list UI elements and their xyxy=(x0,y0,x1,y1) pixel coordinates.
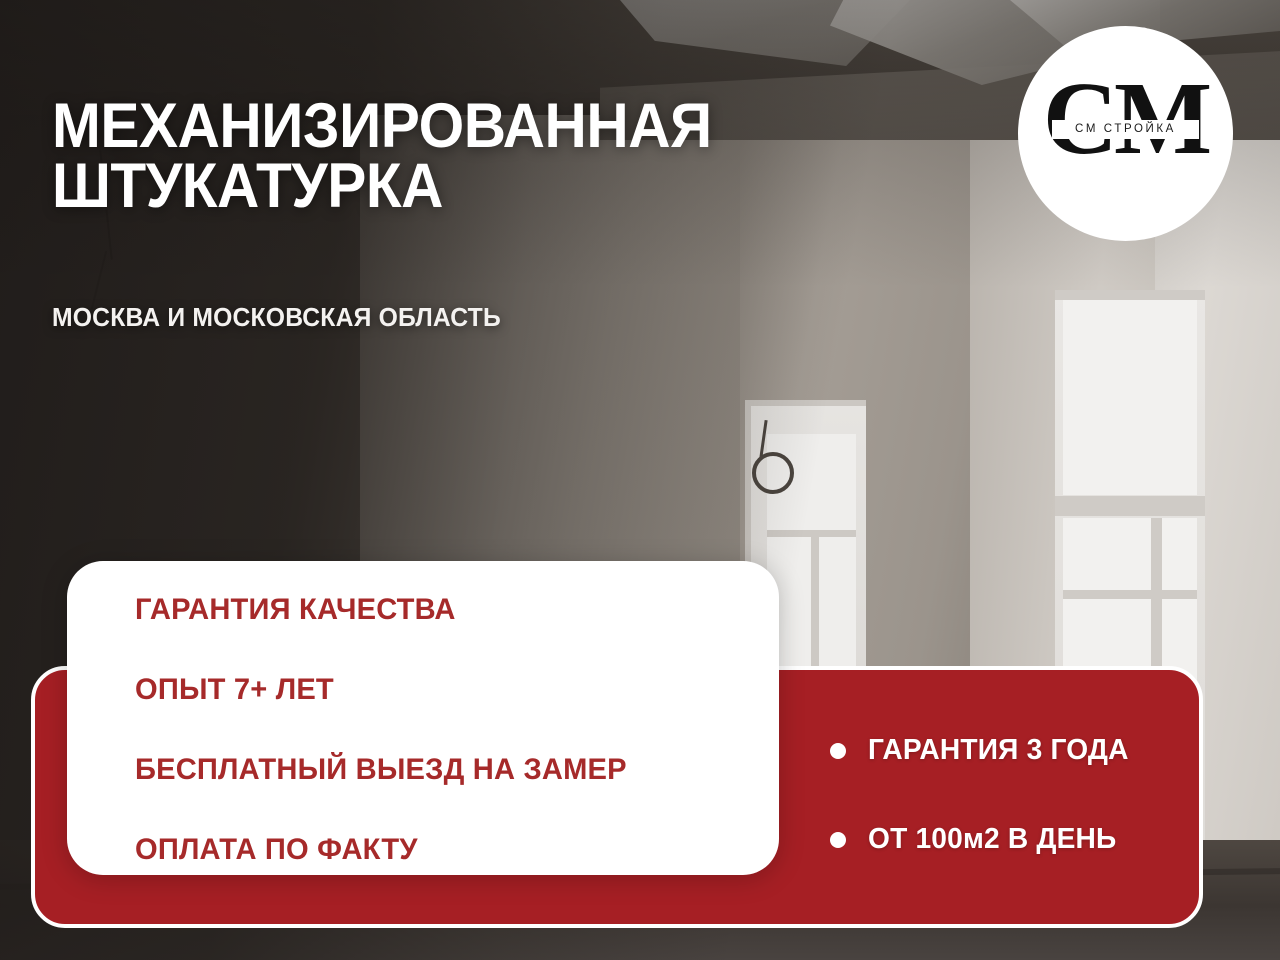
banner-canvas: МЕХАНИЗИРОВАННАЯ ШТУКАТУРКА МОСКВА И МОС… xyxy=(0,0,1280,960)
page-subtitle: МОСКВА И МОСКОВСКАЯ ОБЛАСТЬ xyxy=(52,302,501,333)
brand-logo[interactable]: CM СМ СТРОЙКА xyxy=(1018,26,1233,241)
list-item: ОПЫТ 7+ ЛЕТ xyxy=(135,675,736,705)
benefits-list: ГАРАНТИЯ КАЧЕСТВА ОПЫТ 7+ ЛЕТ БЕСПЛАТНЫЙ… xyxy=(135,595,755,865)
page-title-line-2: ШТУКАТУРКА xyxy=(52,156,908,216)
bullet-icon xyxy=(830,743,846,759)
list-item: ГАРАНТИЯ КАЧЕСТВА xyxy=(135,595,736,625)
brand-logo-name: СМ СТРОЙКА xyxy=(1038,123,1213,135)
list-item: БЕСПЛАТНЫЙ ВЫЕЗД НА ЗАМЕР xyxy=(135,755,736,785)
benefits-white-card: ГАРАНТИЯ КАЧЕСТВА ОПЫТ 7+ ЛЕТ БЕСПЛАТНЫЙ… xyxy=(67,561,779,875)
bullet-icon xyxy=(830,832,846,848)
list-item: ГАРАНТИЯ 3 ГОДА xyxy=(830,734,1137,767)
highlights-list: ГАРАНТИЯ 3 ГОДА ОТ 100м2 В ДЕНЬ xyxy=(830,734,1137,856)
brand-logo-inner: CM СМ СТРОЙКА xyxy=(1038,71,1213,196)
highlight-label: ОТ 100м2 В ДЕНЬ xyxy=(868,823,1116,856)
page-title: МЕХАНИЗИРОВАННАЯ ШТУКАТУРКА xyxy=(52,96,908,217)
brand-logo-monogram: CM xyxy=(1038,67,1213,171)
list-item: ОПЛАТА ПО ФАКТУ xyxy=(135,835,736,865)
highlight-label: ГАРАНТИЯ 3 ГОДА xyxy=(868,734,1129,767)
list-item: ОТ 100м2 В ДЕНЬ xyxy=(830,823,1137,856)
